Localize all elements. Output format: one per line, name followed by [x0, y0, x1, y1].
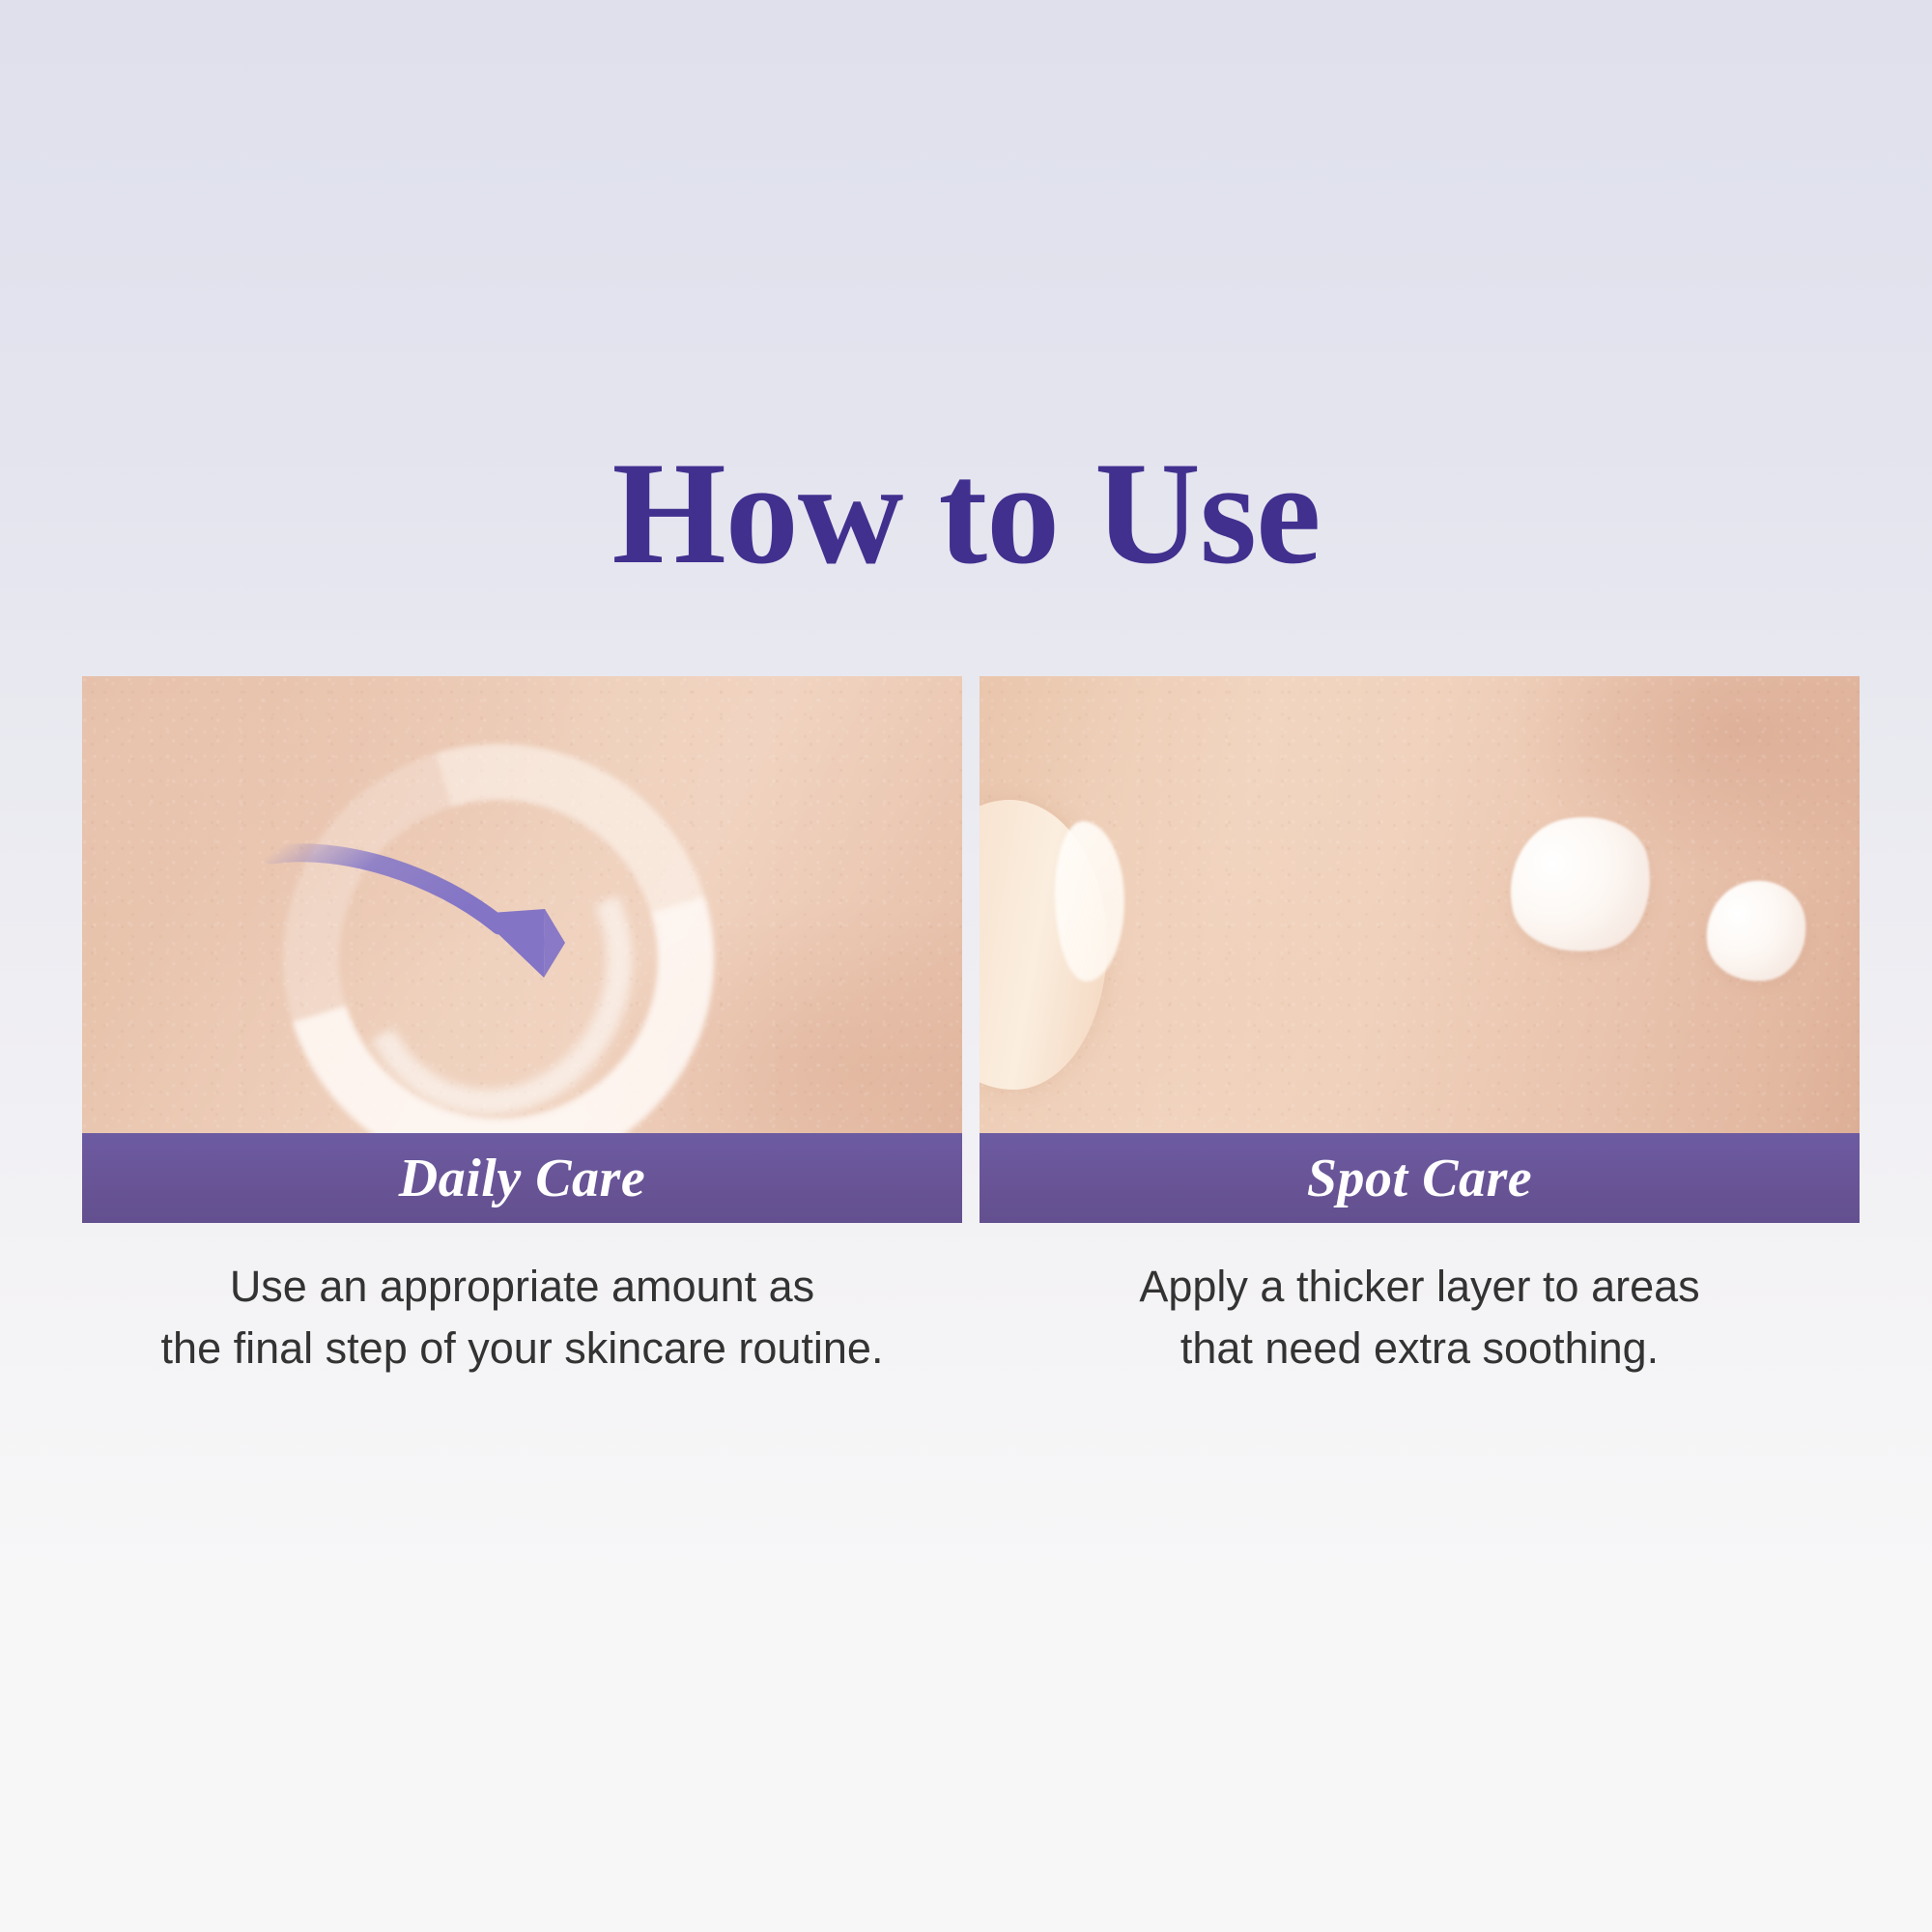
panel-spot-care: Spot Care: [980, 676, 1860, 1223]
how-to-use-page: How to Use: [0, 0, 1932, 1932]
panels-row: Daily Care Spot Care: [82, 676, 1860, 1223]
spot-care-caption: Apply a thicker layer to areas that need…: [980, 1256, 1860, 1379]
curved-arrow-icon: [82, 676, 962, 1133]
daily-care-photo: [82, 676, 962, 1133]
daily-care-caption: Use an appropriate amount as the final s…: [82, 1256, 962, 1379]
page-title: How to Use: [0, 440, 1932, 586]
daily-care-label: Daily Care: [399, 1148, 645, 1209]
caption-line: Apply a thicker layer to areas: [980, 1256, 1860, 1318]
caption-line: the final step of your skincare routine.: [82, 1318, 962, 1379]
panel-daily-care: Daily Care: [82, 676, 962, 1223]
caption-line: Use an appropriate amount as: [82, 1256, 962, 1318]
caption-line: that need extra soothing.: [980, 1318, 1860, 1379]
daily-care-label-bar: Daily Care: [82, 1133, 962, 1223]
captions-row: Use an appropriate amount as the final s…: [82, 1256, 1860, 1379]
spot-care-photo: [980, 676, 1860, 1133]
spot-care-label: Spot Care: [1307, 1148, 1532, 1209]
spot-care-label-bar: Spot Care: [980, 1133, 1860, 1223]
